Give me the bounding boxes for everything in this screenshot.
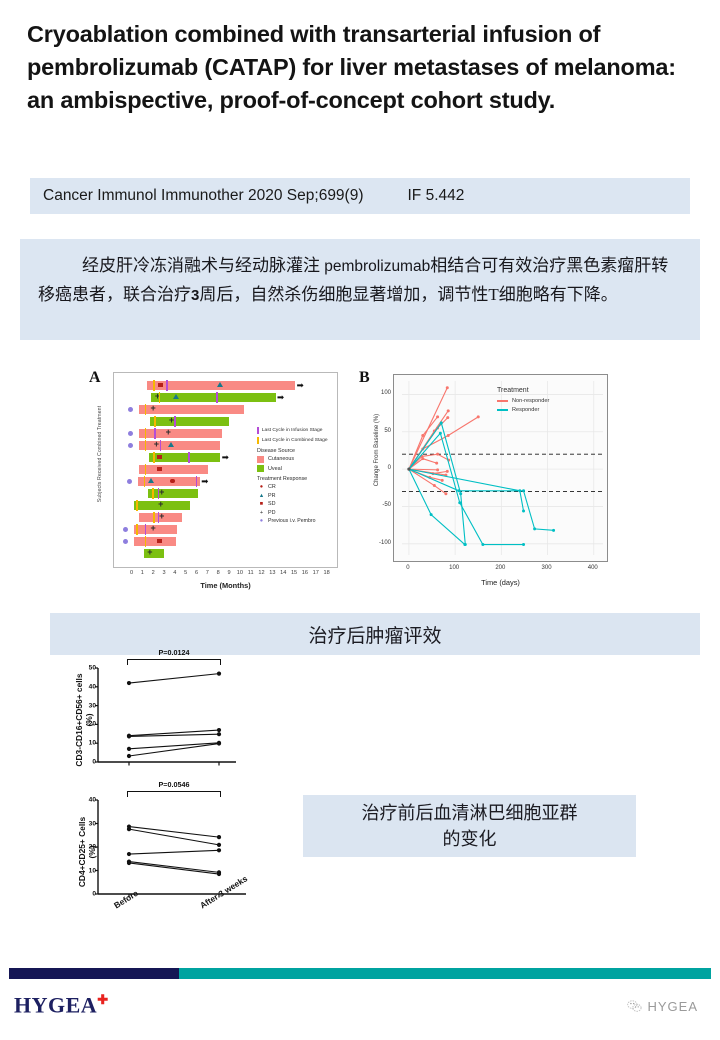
panel-a-bar [134,537,176,546]
panel-a-xtick: 18 [323,570,329,576]
dotplot-nk-svg [50,648,290,788]
legend-label: CR [268,484,276,490]
data-point-after [217,843,221,847]
legend-label: PD [268,510,276,516]
panel-a-marker-inf [188,452,190,463]
legend-swatch [257,465,264,472]
panel-b-legend: Treatment Non-responderResponder [497,387,549,416]
panel-a-subject-bar-row: ➡ [114,381,339,390]
legend-label: Last Cycle in Infusion Stage [262,428,323,433]
panel-b-data-point [436,468,439,471]
panel-a-marker-comb [152,488,154,499]
panel-a-xtick: 11 [248,570,254,576]
panel-b-data-point [552,529,555,532]
panel-b-y-axis-ticks: -100-50050100 [363,374,391,562]
panel-b-xtick: 0 [406,565,409,571]
legend-title: Treatment [497,387,549,394]
legend-header-disease-source: Disease Source [257,448,357,454]
legend-label: Cutaneous [268,456,294,462]
paired-connector-line [129,862,219,873]
panel-b-legend-entry: Non-responder [497,398,549,404]
data-point-before [127,681,131,685]
panel-b-series-line [409,433,524,544]
panel-a-x-axis-label: Time (Months) [113,581,338,590]
panel-b-data-point [441,479,444,482]
legend-swatch [497,409,508,411]
panel-b-ytick: -50 [382,502,391,508]
data-point-before [127,827,131,831]
panel-a-marker-inf [160,440,162,451]
panel-a-marker-comb [145,536,147,547]
legend-swatch [257,437,259,444]
panel-a-marker-pd: + [150,404,155,413]
dotplot-treg-svg [50,780,300,930]
panel-a-marker-pd: + [158,500,163,509]
legend-symbol: ● [257,518,266,524]
panel-b-ytick: 0 [388,465,391,471]
panel-a-xtick: 7 [206,570,209,576]
panel-a-xtick: 9 [227,570,230,576]
data-point-before [127,754,131,758]
panel-a-previous-iv-dot [123,527,128,532]
panel-a-xtick: 17 [313,570,319,576]
caption-lymphocyte-change: 治疗前后血清淋巴细胞亚群 的变化 [303,795,636,857]
panel-a-bar [148,489,198,498]
panel-a-marker-pd: + [154,440,159,449]
panel-a-marker-comb [153,452,155,463]
wechat-icon [627,1000,642,1013]
panel-a-xtick: 2 [152,570,155,576]
panel-a-previous-iv-dot [128,443,133,448]
data-point-after [217,872,221,876]
legend-label: Last Cycle in Combined Stage [262,438,328,443]
panel-b-ytick: 50 [384,428,391,434]
paired-connector-line [129,863,219,874]
panel-a-marker-inf [196,476,198,487]
paired-connector-line [129,674,219,683]
panel-a-marker-comb [145,404,147,415]
panel-a-subject-bar-row: ➡+ [114,393,339,402]
abstract-text: 经皮肝冷冻消融术与经动脉灌注 pembrolizumab相结合可有效治疗黑色素瘤… [38,252,682,310]
panel-a-marker-comb [144,476,146,487]
panel-a-subject-bar-row: + [114,405,339,414]
footer-bar-navy [9,968,179,979]
footer-wechat-handle: HYGEA [627,999,698,1014]
panel-b-legend-entry: Responder [497,407,549,413]
panel-b-data-point [459,492,462,495]
legend-swatch [497,400,508,402]
journal-reference: Cancer Immunol Immunother 2020 Sep;699(9… [43,187,364,205]
panel-a-marker-comb [145,428,147,439]
caption-lymphocyte-line2: 的变化 [443,826,497,852]
panel-a-subject-bar-row: + [114,417,339,426]
panel-b-xtick: 300 [542,565,552,571]
chart-dotplot-nk: P=0.0124 CD3-CD16+CD56+ cells (%) 010203… [50,648,290,788]
panel-a-marker-comb [145,464,147,475]
panel-a-y-axis-label: Subjects Received Combined Treatment [97,379,103,529]
panel-a-marker-cr [170,479,175,484]
panel-a-marker-comb [136,524,138,535]
panel-a-legend: Last Cycle in Infusion StageLast Cycle i… [257,427,357,527]
panel-b-data-point [522,509,525,512]
panel-a-xtick: 4 [173,570,176,576]
panel-a-bar [150,417,229,426]
data-point-after [217,741,221,745]
legend-symbol: ■ [257,501,266,507]
panel-a-ongoing-arrow: ➡ [277,394,284,400]
panel-b-xtick: 200 [495,565,505,571]
panel-a-legend-previous-iv: ●Previous i.v. Pembro [257,518,357,524]
panel-a-xtick: 13 [269,570,275,576]
panel-a-previous-iv-dot [127,479,132,484]
panel-b-data-point [421,457,424,460]
panel-a-xtick: 1 [141,570,144,576]
panel-a-bar [139,465,208,474]
panel-b-data-point [444,492,447,495]
panel-a-x-axis-ticks: 0123456789101112131415161718 [113,568,338,580]
legend-symbol: + [257,510,266,516]
panel-a-marker-pr [173,394,179,399]
chart-dotplot-treg: P=0.0546 CD4+CD25+ Cells (%) 010203040 B… [50,780,300,930]
panel-a-legend-response: ■SD [257,501,357,507]
legend-label: PR [268,493,276,499]
panel-a-ongoing-arrow: ➡ [201,478,208,484]
legend-label: SD [268,501,276,507]
footer-logo: HYGEA✚ [14,992,109,1018]
data-point-after [217,848,221,852]
panel-a-marker-sd [157,455,162,460]
panel-b-data-point [463,543,466,546]
panel-a-previous-iv-dot [123,539,128,544]
data-point-before [127,852,131,856]
panel-a-marker-inf [216,392,218,403]
panel-a-xtick: 12 [258,570,264,576]
panel-b-data-point [421,434,424,437]
panel-b-data-point [440,421,443,424]
panel-b-series-line [409,469,554,530]
panel-a-legend-disease-source: Cutaneous [257,456,357,463]
data-point-after [217,672,221,676]
legend-label: Responder [512,407,539,413]
footer-bar-teal [179,968,711,979]
data-point-before [127,734,131,738]
chart-panel-a: A Subjects Received Combined Treatment ➡… [85,365,357,605]
panel-b-xtick: 400 [588,565,598,571]
abstract-box: 经皮肝冷冻消融术与经动脉灌注 pembrolizumab相结合可有效治疗黑色素瘤… [20,239,700,340]
legend-label: Uveal [268,466,282,472]
panel-a-previous-iv-dot [128,431,133,436]
panel-b-data-point [481,543,484,546]
panel-a-marker-pd: + [147,548,152,557]
legend-label: Previous i.v. Pembro [268,518,315,524]
page-title: Cryoablation combined with transarterial… [27,18,695,117]
panel-b-ytick: 100 [381,390,391,396]
panel-b-data-point [522,543,525,546]
panel-a-marker-comb [153,380,155,391]
slide-canvas: Cryoablation combined with transarterial… [0,0,720,1040]
legend-header-treatment-response: Treatment Response [257,476,357,482]
panel-a-marker-comb [136,500,138,511]
impact-factor: IF 5.442 [408,187,465,205]
panel-b-xtick: 100 [449,565,459,571]
panel-a-marker-comb [145,440,147,451]
panel-a-marker-pr [217,382,223,387]
data-point-before [127,861,131,865]
panel-a-marker-pd: + [159,488,164,497]
panel-a-legend-disease-source: Uveal [257,465,357,472]
panel-b-data-point [447,434,450,437]
panel-b-data-point [446,470,449,473]
panel-a-bar [139,429,222,438]
panel-a-xtick: 5 [184,570,187,576]
journal-info-bar: Cancer Immunol Immunother 2020 Sep;699(9… [30,178,690,214]
panel-b-data-point [458,501,461,504]
panel-a-xtick: 15 [291,570,297,576]
panel-a-xtick: 14 [280,570,286,576]
footer-logo-text: HYGEA [14,992,97,1017]
panel-b-x-axis-ticks: 0100200300400 [393,564,608,576]
panel-a-previous-iv-dot [128,407,133,412]
panel-a-subject-bar-row [114,537,339,546]
panel-a-xtick: 8 [217,570,220,576]
panel-a-xtick: 16 [302,570,308,576]
panel-a-xtick: 6 [195,570,198,576]
panel-b-data-point [435,462,438,465]
panel-b-data-point [436,415,439,418]
data-point-after [217,732,221,736]
panel-b-data-point [436,453,439,456]
panel-b-origin-point [407,468,410,471]
footer-wechat-label: HYGEA [647,999,698,1014]
caption-lymphocyte-line1: 治疗前后血清淋巴细胞亚群 [362,800,578,826]
panel-a-xtick: 3 [162,570,165,576]
panel-a-marker-inf [154,428,156,439]
legend-swatch [257,427,259,434]
panel-a-marker-comb [153,512,155,523]
panel-a-legend-marker: Last Cycle in Infusion Stage [257,427,357,434]
panel-b-data-point [439,432,442,435]
medical-cross-icon: ✚ [97,992,108,1007]
legend-swatch [257,456,264,463]
panel-a-marker-inf [174,416,176,427]
panel-a-xtick: 0 [130,570,133,576]
panel-a-marker-pr [168,442,174,447]
panel-a-ongoing-arrow: ➡ [297,382,304,388]
legend-symbol: ▲ [257,493,266,499]
panel-a-legend-response: ▲PR [257,493,357,499]
panel-a-marker-sd [157,539,162,544]
panel-a-bar [139,441,220,450]
panel-a-xtick: 10 [237,570,243,576]
data-point-after [217,835,221,839]
panel-a-legend-marker: Last Cycle in Combined Stage [257,437,357,444]
panel-b-data-point [433,484,436,487]
panel-b-data-point [477,415,480,418]
panel-a-marker-pd: + [166,428,171,437]
panel-a-marker-comb [159,392,161,403]
data-point-before [127,747,131,751]
figure-panels: A Subjects Received Combined Treatment ➡… [85,365,637,605]
panel-b-data-point [447,409,450,412]
panel-a-marker-inf [145,524,147,535]
caption-tumor-response-text: 治疗后肿瘤评效 [308,621,441,648]
panel-b-data-point [430,513,433,516]
paired-connector-line [129,850,219,854]
panel-a-subject-bar-row: + [114,549,339,558]
panel-b-data-point [446,386,449,389]
panel-a-marker-inf [166,380,168,391]
panel-b-data-point [446,416,449,419]
panel-a-marker-sd [158,383,163,388]
legend-label: Non-responder [512,398,549,404]
panel-b-data-point [518,489,521,492]
chart-panel-b: B Change From Baseline (%) -100-50050100… [357,365,637,605]
legend-symbol: ● [257,484,266,490]
panel-a-marker-sd [157,467,162,472]
panel-b-data-point [522,489,525,492]
panel-b-x-axis-label: Time (days) [393,578,608,587]
panel-a-bar [151,393,276,402]
panel-a-legend-response: ●CR [257,484,357,490]
panel-a-marker-pr [148,478,154,483]
data-point-after [217,728,221,732]
panel-a-marker-comb [154,416,156,427]
panel-a-marker-pd: + [150,524,155,533]
panel-a-ongoing-arrow: ➡ [222,454,229,460]
panel-b-data-point [533,527,536,530]
panel-b-data-point [457,489,460,492]
panel-a-legend-response: +PD [257,510,357,516]
panel-b-ytick: -100 [379,540,391,546]
panel-a-marker-pd: + [159,512,164,521]
